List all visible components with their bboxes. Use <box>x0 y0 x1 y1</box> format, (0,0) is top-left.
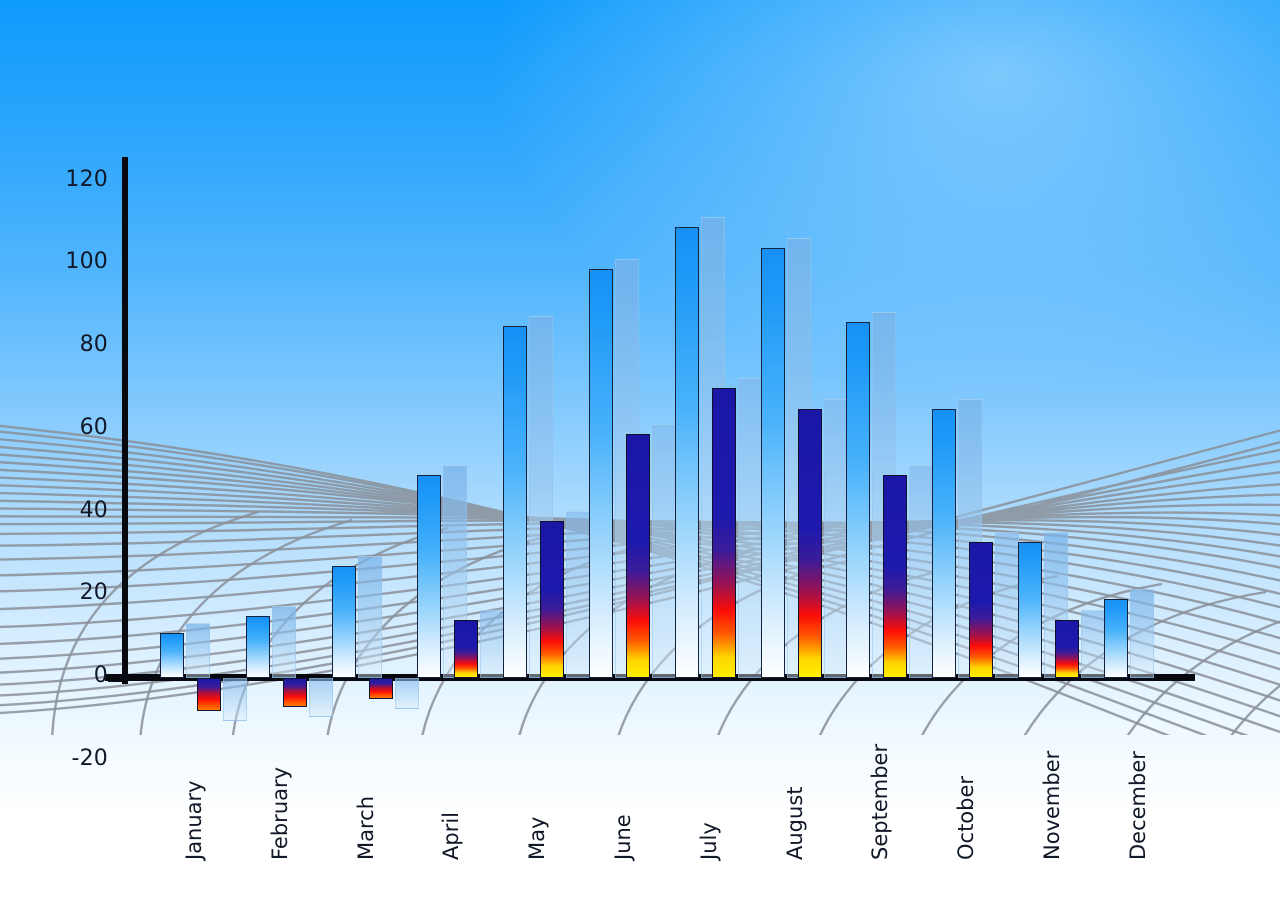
bar-august-series2[interactable] <box>798 409 822 678</box>
bar-june-series2[interactable] <box>626 434 650 678</box>
bar-shadow <box>309 678 333 717</box>
bar-march-series1[interactable] <box>332 566 356 678</box>
y-tick-label-120: 120 <box>0 167 108 192</box>
x-tick-label-december: December <box>1126 751 1150 860</box>
x-tick-label-july: July <box>697 822 721 860</box>
bar-shadow <box>480 610 504 678</box>
bar-january-series2[interactable] <box>197 678 221 711</box>
y-tick-label-100: 100 <box>0 249 108 274</box>
x-tick-label-june: June <box>611 814 635 860</box>
y-tick-label-60: 60 <box>0 415 108 440</box>
bar-shadow <box>272 606 296 678</box>
bar-shadow <box>1130 589 1154 678</box>
bar-shadow <box>995 532 1019 678</box>
bar-june-series1[interactable] <box>589 269 613 678</box>
bars-layer <box>0 0 1280 905</box>
x-tick-label-february: February <box>268 767 292 860</box>
bar-february-series1[interactable] <box>246 616 270 678</box>
bar-shadow <box>223 678 247 721</box>
chart-canvas: -20020406080100120 JanuaryFebruaryMarchA… <box>0 0 1280 905</box>
x-tick-label-september: September <box>868 744 892 860</box>
x-tick-label-march: March <box>354 796 378 860</box>
bar-july-series2[interactable] <box>712 388 736 678</box>
y-tick-label-20: 20 <box>0 580 108 605</box>
bar-january-series1[interactable] <box>160 633 184 678</box>
bar-shadow <box>186 623 210 678</box>
y-tick-label-0: 0 <box>0 663 108 688</box>
bar-april-series1[interactable] <box>417 475 441 678</box>
y-tick-label-80: 80 <box>0 332 108 357</box>
x-tick-label-november: November <box>1040 751 1064 860</box>
y-axis-line <box>122 157 128 684</box>
bar-november-series2[interactable] <box>1055 620 1079 678</box>
bar-shadow <box>652 424 676 678</box>
bar-may-series2[interactable] <box>540 521 564 678</box>
bar-shadow <box>909 465 933 678</box>
bar-october-series2[interactable] <box>969 542 993 678</box>
bar-september-series1[interactable] <box>846 322 870 678</box>
bar-may-series1[interactable] <box>503 326 527 678</box>
y-tick-label-40: 40 <box>0 498 108 523</box>
bar-october-series1[interactable] <box>932 409 956 678</box>
bar-shadow <box>738 378 762 678</box>
y-tick-mark-0 <box>108 676 128 682</box>
bar-august-series1[interactable] <box>761 248 785 678</box>
x-tick-label-january: January <box>182 780 206 860</box>
bar-shadow <box>824 399 848 678</box>
bar-march-series2[interactable] <box>369 678 393 699</box>
bar-shadow <box>358 556 382 678</box>
bar-november-series1[interactable] <box>1018 542 1042 678</box>
x-tick-label-may: May <box>525 817 549 860</box>
x-tick-label-april: April <box>439 812 463 860</box>
bar-shadow <box>566 511 590 678</box>
y-tick-label--20: -20 <box>0 746 108 771</box>
bar-shadow <box>395 678 419 709</box>
bar-december-series1[interactable] <box>1104 599 1128 678</box>
bar-shadow <box>1081 610 1105 678</box>
bar-february-series2[interactable] <box>283 678 307 707</box>
bar-july-series1[interactable] <box>675 227 699 678</box>
bar-april-series2[interactable] <box>454 620 478 678</box>
x-tick-label-october: October <box>954 776 978 860</box>
x-tick-label-august: August <box>783 787 807 861</box>
bar-september-series2[interactable] <box>883 475 907 678</box>
